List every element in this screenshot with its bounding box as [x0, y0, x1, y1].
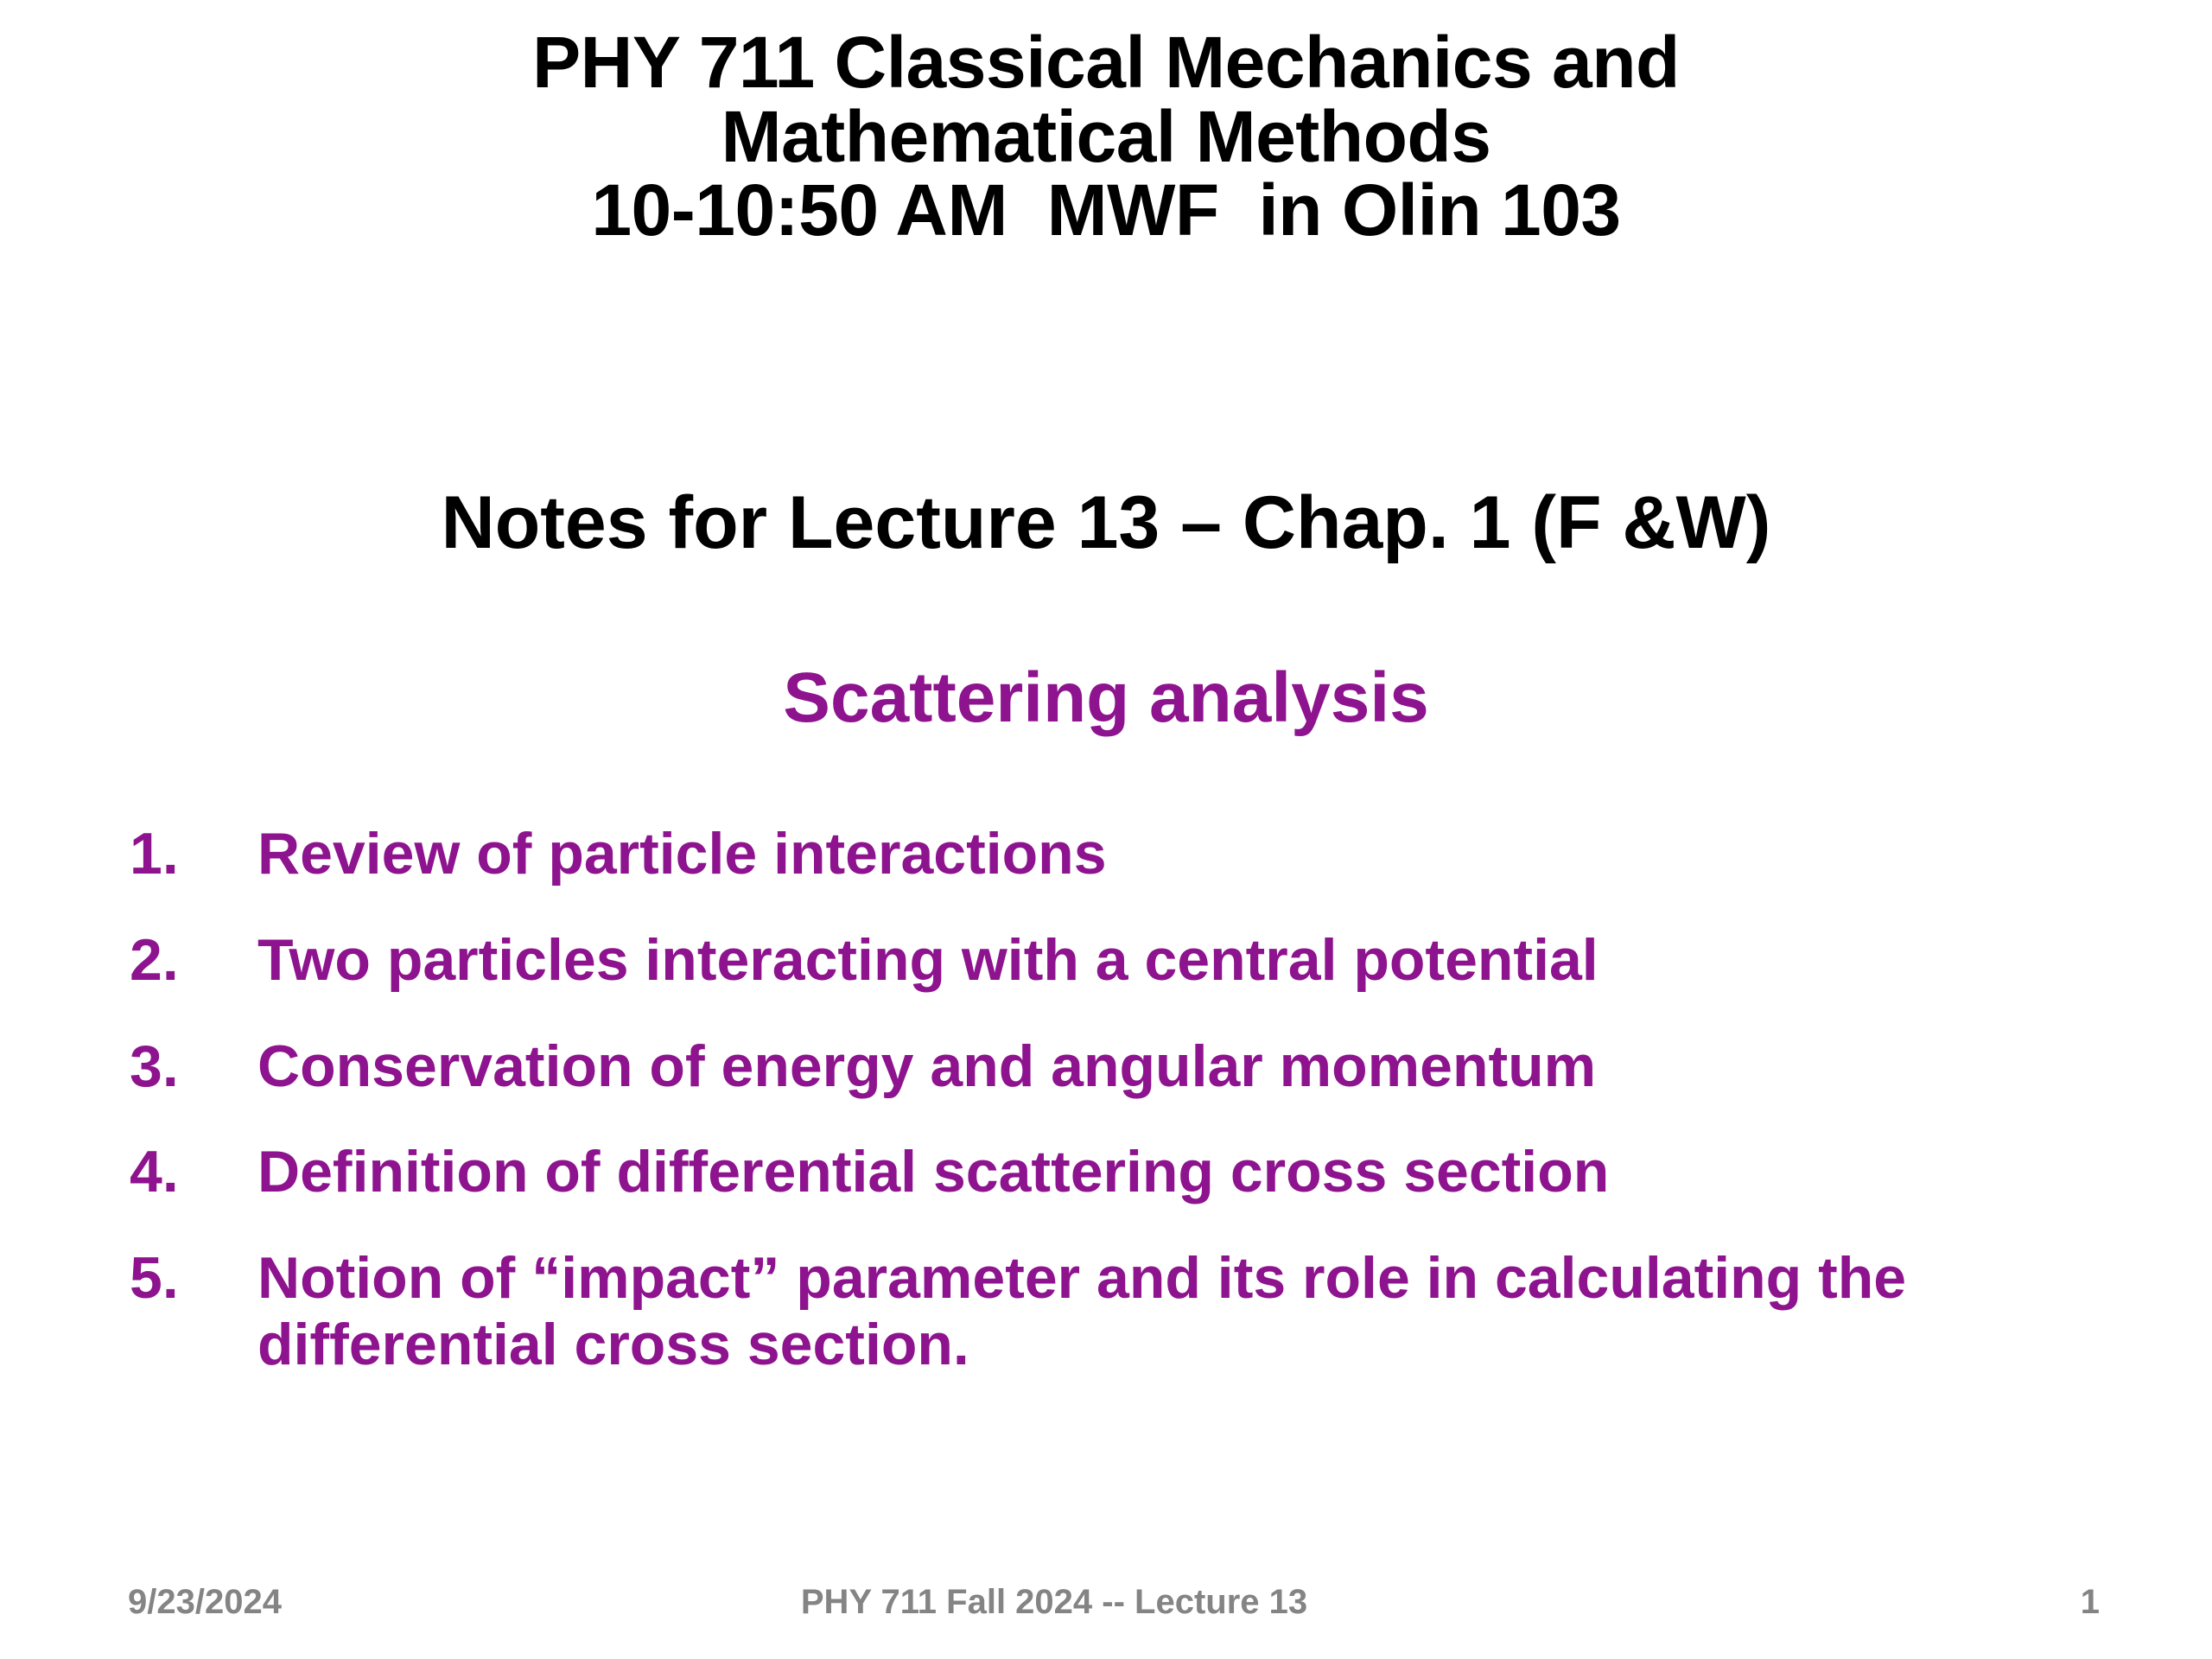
list-item-number: 4. — [130, 1139, 257, 1205]
list-item-number: 5. — [130, 1245, 257, 1312]
list-item: 1. Review of particle interactions — [130, 821, 2074, 887]
lecture-notes-heading: Notes for Lecture 13 – Chap. 1 (F &W) — [0, 484, 2212, 562]
list-item: 2. Two particles interacting with a cent… — [130, 927, 2074, 994]
title-line-subject: Mathematical Methods — [0, 100, 2212, 175]
list-item-text: Notion of “impact” parameter and its rol… — [257, 1245, 2074, 1378]
title-line-course: PHY 711 Classical Mechanics and — [0, 26, 2212, 100]
footer-course-label: PHY 711 Fall 2024 -- Lecture 13 — [0, 1578, 2212, 1626]
list-item-number: 2. — [130, 927, 257, 994]
list-item-number: 1. — [130, 821, 257, 887]
list-item-text: Two particles interacting with a central… — [257, 927, 2074, 994]
list-item-text: Definition of differential scattering cr… — [257, 1139, 2074, 1205]
list-item-text: Review of particle interactions — [257, 821, 2074, 887]
section-heading: Scattering analysis — [0, 661, 2212, 735]
title-line-schedule: 10-10:50 AM MWF in Olin 103 — [0, 174, 2212, 248]
slide-footer: 9/23/2024 PHY 711 Fall 2024 -- Lecture 1… — [0, 1578, 2212, 1626]
list-item-text: Conservation of energy and angular momen… — [257, 1033, 2074, 1100]
presentation-slide: PHY 711 Classical Mechanics and Mathemat… — [0, 0, 2212, 1659]
list-item: 3. Conservation of energy and angular mo… — [130, 1033, 2074, 1100]
slide-title-block: PHY 711 Classical Mechanics and Mathemat… — [0, 26, 2212, 248]
list-item-number: 3. — [130, 1033, 257, 1100]
outline-list: 1. Review of particle interactions 2. Tw… — [130, 821, 2074, 1378]
list-item: 4. Definition of differential scattering… — [130, 1139, 2074, 1205]
footer-page-number: 1 — [2081, 1578, 2100, 1626]
list-item: 5. Notion of “impact” parameter and its … — [130, 1245, 2074, 1378]
